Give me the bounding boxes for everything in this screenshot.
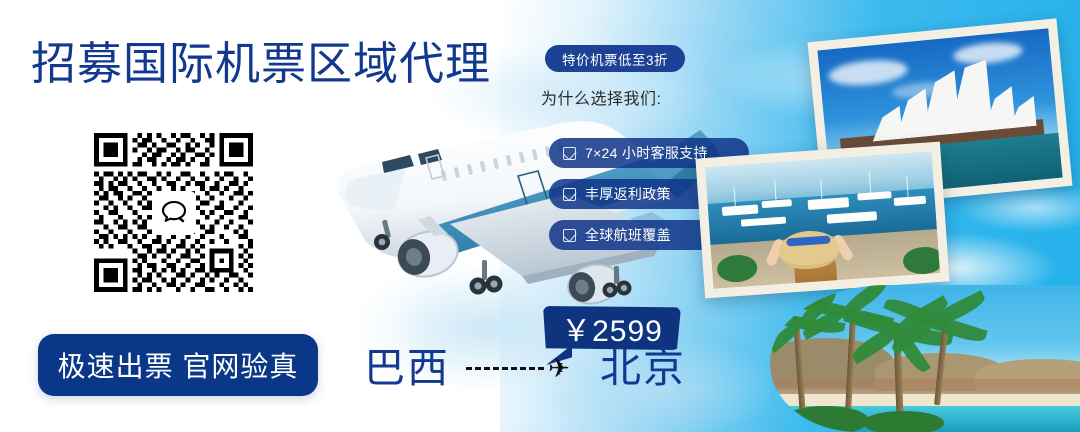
photo-image [705, 151, 940, 289]
flight-route: 巴西 ✈ 北京 [364, 348, 686, 389]
price-value: ￥2599 [561, 306, 663, 350]
feature-label: 7×24 小时客服支持 [585, 143, 708, 163]
checkbox-checked-icon [563, 229, 576, 242]
promo-banner: 招募国际机票区域代理 [0, 0, 1080, 432]
feature-label: 全球航班覆盖 [585, 225, 671, 245]
route-connector: ✈ [466, 359, 584, 379]
chat-bubble-icon [152, 191, 196, 235]
checkbox-checked-icon [563, 188, 576, 201]
price-tag: ￥2599 [543, 306, 681, 350]
feature-label: 丰厚返利政策 [585, 184, 671, 204]
why-choose-us-title: 为什么选择我们: [541, 85, 661, 109]
page-title: 招募国际机票区域代理 [31, 41, 491, 86]
airplane-icon: ✈ [548, 355, 570, 381]
cta-label: 极速出票 官网验真 [58, 345, 299, 385]
tropical-beach-photo [770, 285, 1080, 432]
route-dashed-line [466, 367, 544, 370]
cta-button[interactable]: 极速出票 官网验真 [38, 334, 318, 396]
checkbox-checked-icon [563, 147, 576, 160]
route-destination: 北京 [600, 348, 686, 389]
qr-code[interactable] [94, 133, 253, 292]
marina-traveler-photo [695, 142, 949, 299]
route-origin: 巴西 [364, 348, 450, 389]
discount-badge: 特价机票低至3折 [545, 45, 685, 72]
discount-badge-label: 特价机票低至3折 [562, 49, 668, 69]
